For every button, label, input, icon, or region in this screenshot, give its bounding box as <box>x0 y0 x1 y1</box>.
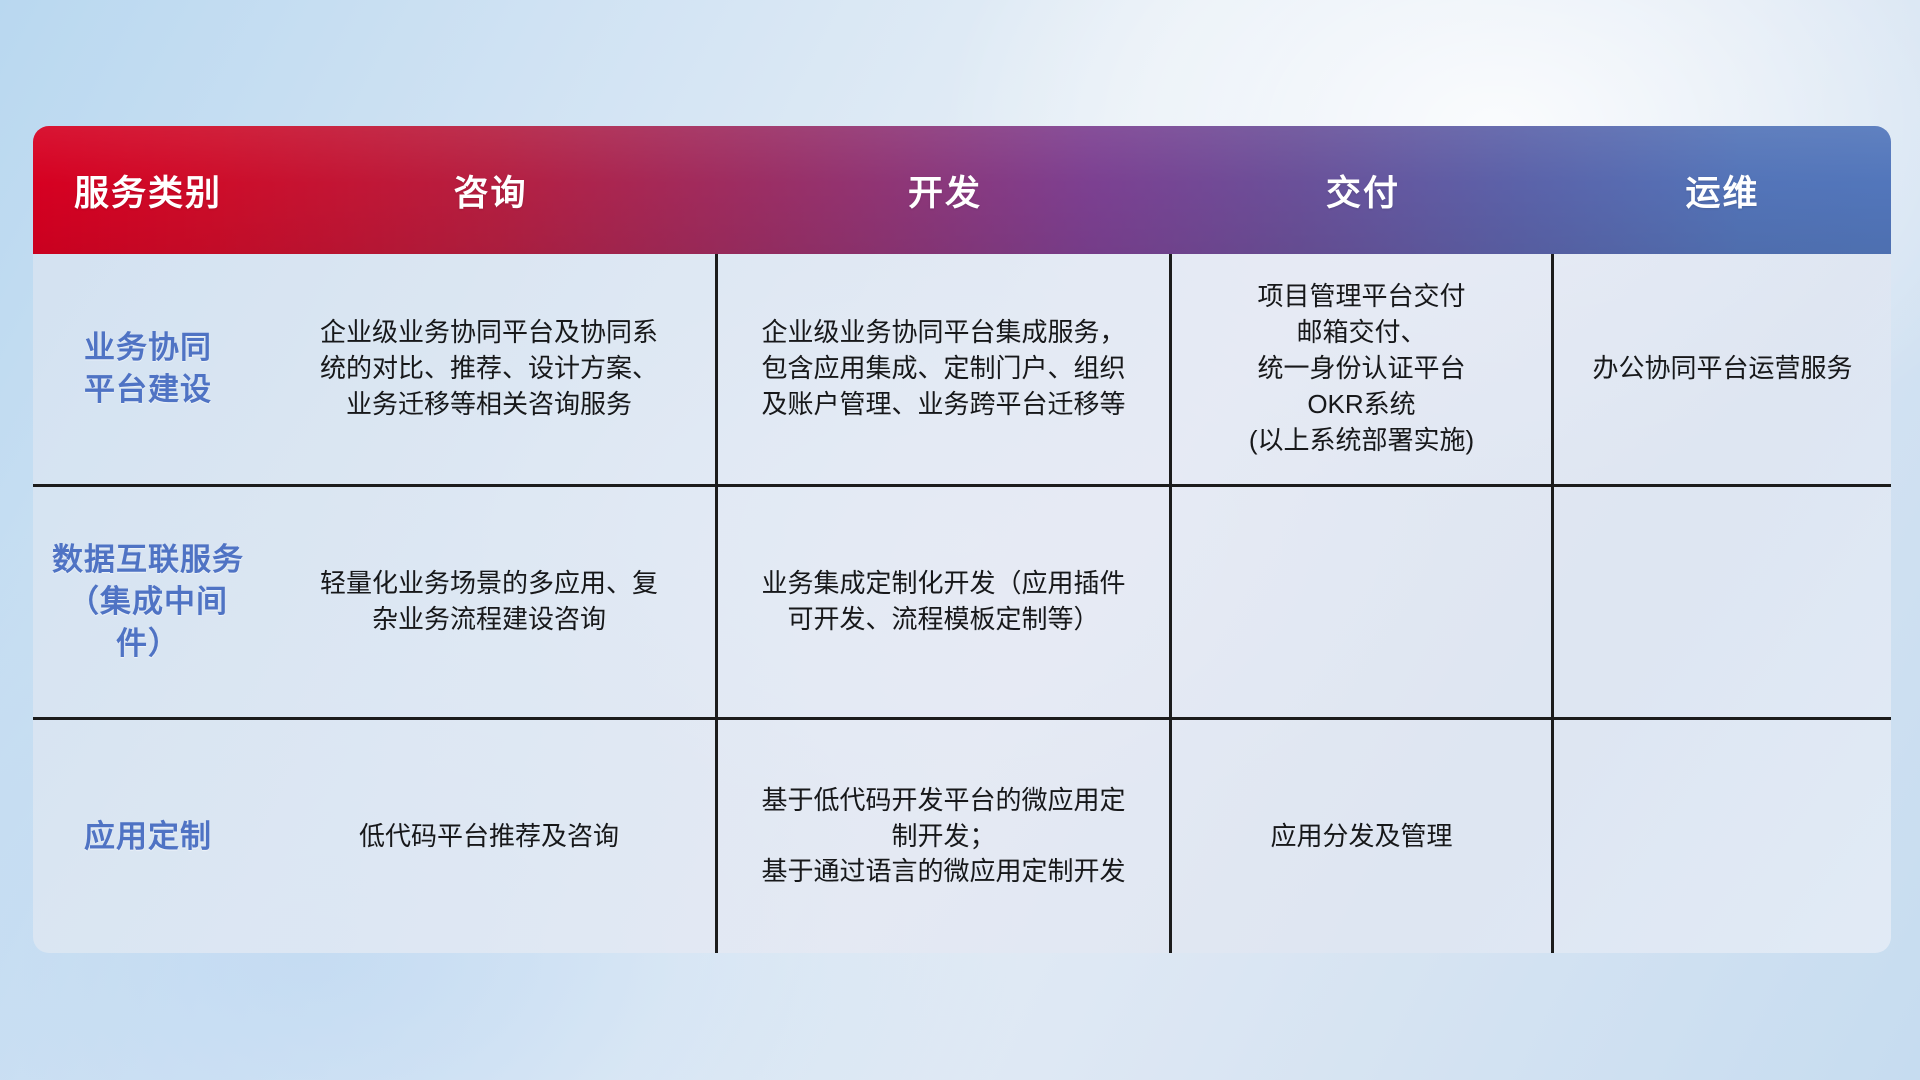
header-delivery: 交付 <box>1172 126 1554 254</box>
header-service-category-label: 服务类别 <box>74 165 222 216</box>
cell-delivery: 应用分发及管理 <box>1172 720 1554 953</box>
header-delivery-label: 交付 <box>1326 165 1400 216</box>
table-header-row: 服务类别 咨询 开发 交付 运维 <box>33 126 1891 254</box>
cell-operations: 办公协同平台运营服务 <box>1554 254 1891 484</box>
row-category-label: 数据互联服务 （集成中间件） <box>33 487 263 717</box>
cell-operations <box>1554 720 1891 953</box>
table-row: 业务协同 平台建设 企业级业务协同平台及协同系 统的对比、推荐、设计方案、 业务… <box>33 254 1891 487</box>
service-matrix-table: 服务类别 咨询 开发 交付 运维 业务协同 平台建设 企业级业务协同平台及协同系… <box>33 126 1891 950</box>
cell-consulting: 低代码平台推荐及咨询 <box>263 720 718 953</box>
slide-canvas: 服务类别 咨询 开发 交付 运维 业务协同 平台建设 企业级业务协同平台及协同系… <box>0 0 1920 1080</box>
header-operations: 运维 <box>1554 126 1891 254</box>
header-operations-label: 运维 <box>1685 165 1759 216</box>
header-development: 开发 <box>718 126 1172 254</box>
header-consulting-label: 咨询 <box>453 165 527 216</box>
table-row: 应用定制 低代码平台推荐及咨询 基于低代码开发平台的微应用定 制开发； 基于通过… <box>33 720 1891 953</box>
cell-development: 企业级业务协同平台集成服务， 包含应用集成、定制门户、组织 及账户管理、业务跨平… <box>718 254 1172 484</box>
cell-delivery <box>1172 487 1554 717</box>
cell-development: 基于低代码开发平台的微应用定 制开发； 基于通过语言的微应用定制开发 <box>718 720 1172 953</box>
row-category-label: 应用定制 <box>33 720 263 953</box>
header-service-category: 服务类别 <box>33 126 263 254</box>
table-row: 数据互联服务 （集成中间件） 轻量化业务场景的多应用、复 杂业务流程建设咨询 业… <box>33 487 1891 720</box>
table-body: 业务协同 平台建设 企业级业务协同平台及协同系 统的对比、推荐、设计方案、 业务… <box>33 254 1891 953</box>
cell-consulting: 轻量化业务场景的多应用、复 杂业务流程建设咨询 <box>263 487 718 717</box>
header-development-label: 开发 <box>908 165 982 216</box>
header-consulting: 咨询 <box>263 126 718 254</box>
row-category-label: 业务协同 平台建设 <box>33 254 263 484</box>
cell-delivery: 项目管理平台交付 邮箱交付、 统一身份认证平台 OKR系统 (以上系统部署实施) <box>1172 254 1554 484</box>
cell-operations <box>1554 487 1891 717</box>
cell-development: 业务集成定制化开发（应用插件 可开发、流程模板定制等） <box>718 487 1172 717</box>
cell-consulting: 企业级业务协同平台及协同系 统的对比、推荐、设计方案、 业务迁移等相关咨询服务 <box>263 254 718 484</box>
